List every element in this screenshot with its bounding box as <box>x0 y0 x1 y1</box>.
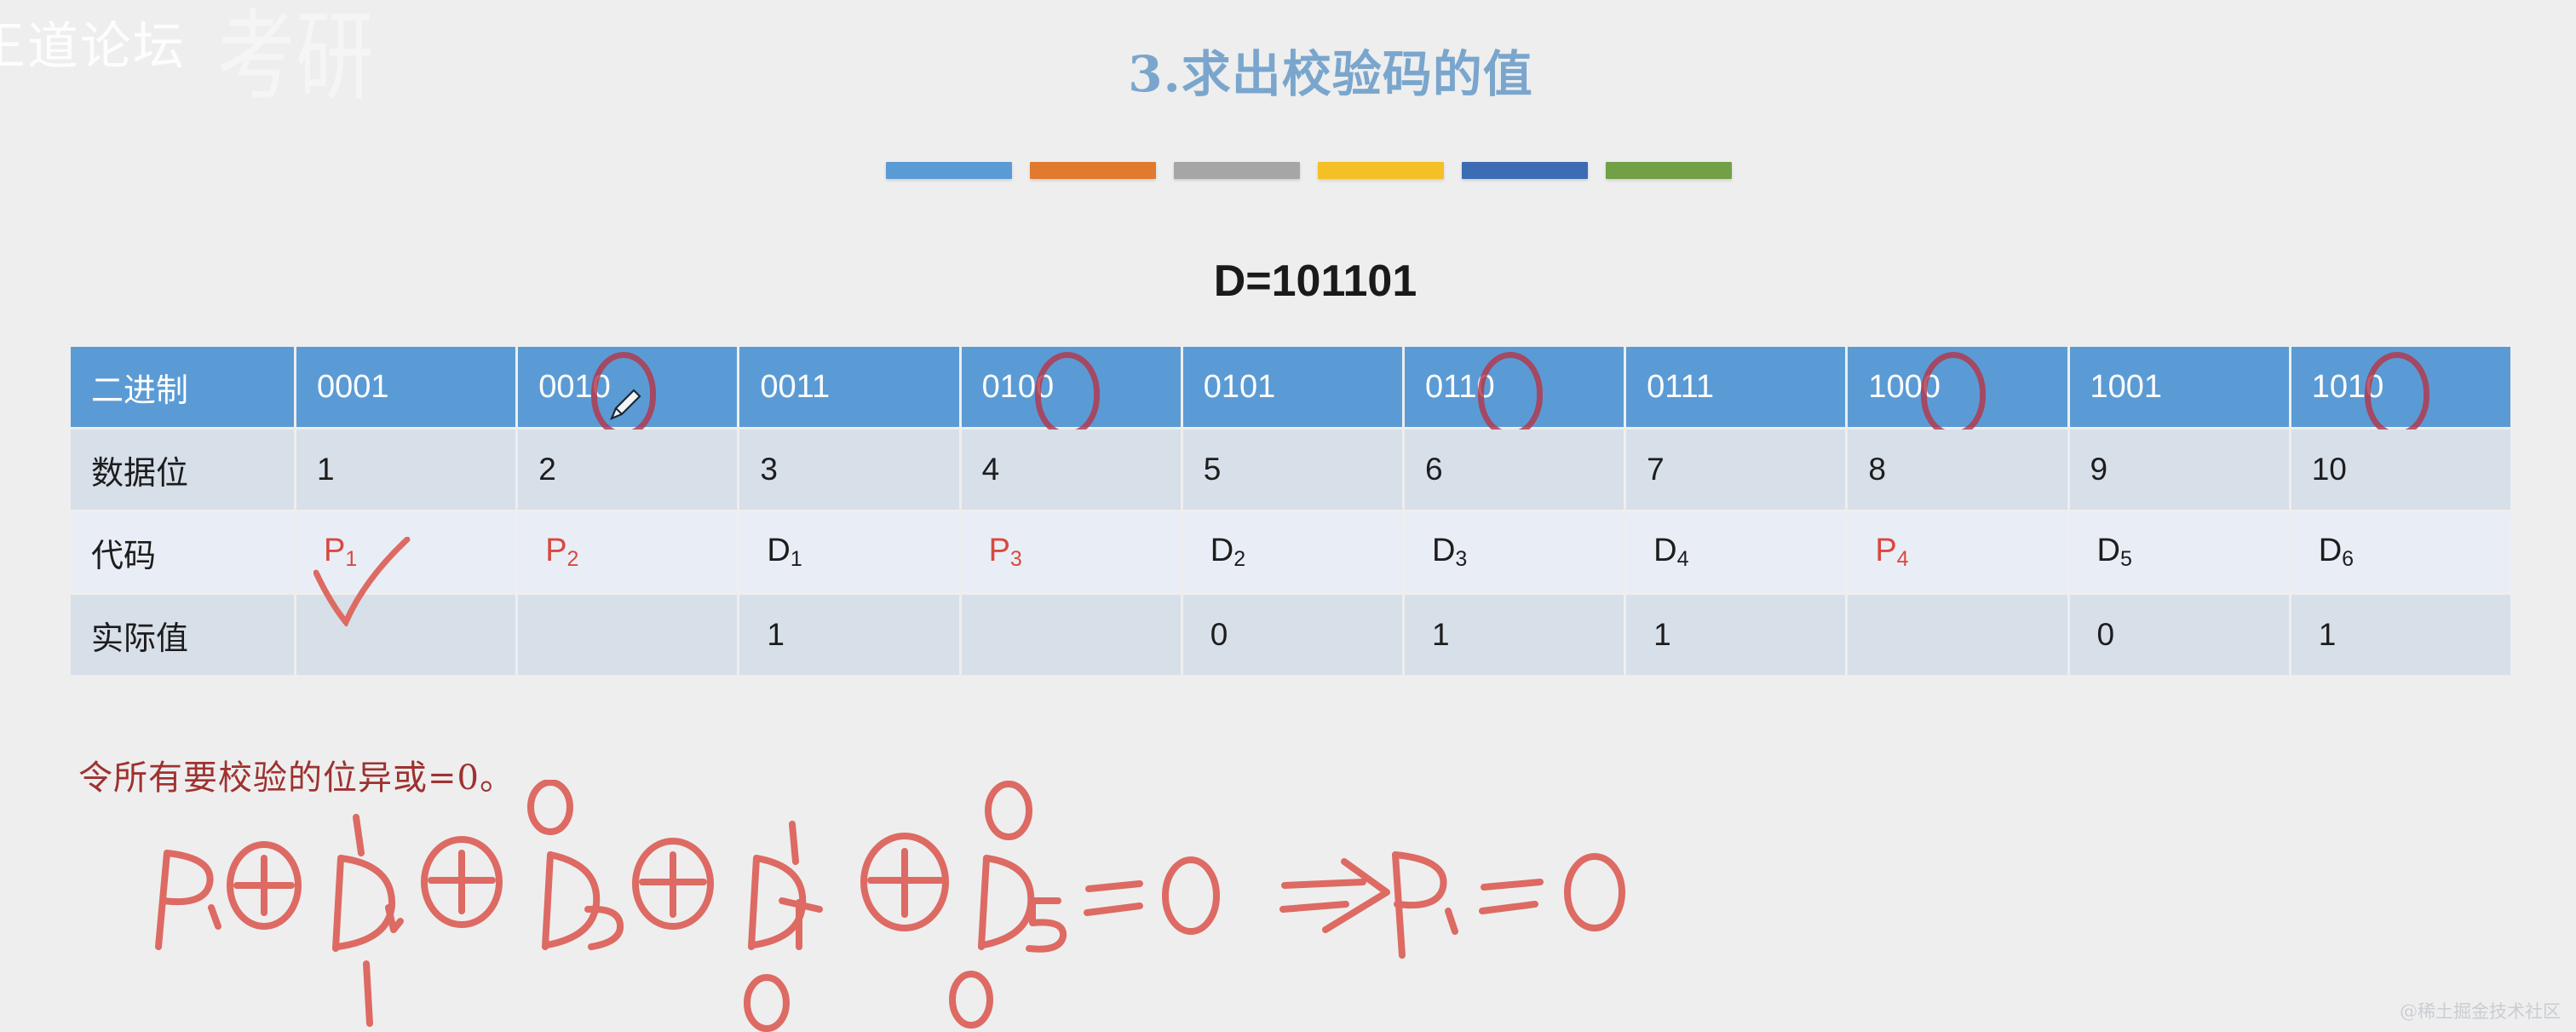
code-cell-P1: P1 <box>296 512 515 592</box>
actual-value-cell-6: 1 <box>1405 595 1624 675</box>
table-row-binary: 二进制0001001000110100010101100111100010011… <box>71 347 2510 427</box>
code-base: P <box>1875 533 1896 568</box>
actual-value-cell-7: 1 <box>1626 595 1845 675</box>
ink-result-p1-zero <box>1395 855 1622 955</box>
code-base: D <box>2097 533 2120 568</box>
code-subscript: 4 <box>1677 547 1689 571</box>
code-base: D <box>2319 533 2342 568</box>
code-subscript: 3 <box>1010 547 1022 571</box>
code-base: D <box>1653 533 1676 568</box>
code-base: D <box>767 533 790 568</box>
actual-value-cell-9: 0 <box>2070 595 2289 675</box>
data-bit-cell-10: 10 <box>2291 430 2510 510</box>
divider-bars <box>886 162 1732 179</box>
row-label-data-bit: 数据位 <box>71 430 294 510</box>
actual-value-cell-4 <box>962 595 1181 675</box>
ink-xor-4 <box>864 836 990 1025</box>
code-cell-P3: P3 <box>962 512 1181 592</box>
code-subscript: 2 <box>1233 547 1245 571</box>
hamming-code-table: 二进制0001001000110100010101100111100010011… <box>68 344 2513 677</box>
row-label-binary: 二进制 <box>71 347 294 427</box>
binary-cell-6: 0110 <box>1405 347 1624 427</box>
code-cell-D5: D5 <box>2070 512 2289 592</box>
binary-cell-2: 0010 <box>518 347 737 427</box>
actual-value-cell-8 <box>1848 595 2067 675</box>
ink-circle-annotation <box>1478 352 1543 437</box>
data-bit-cell-7: 7 <box>1626 430 1845 510</box>
actual-value-cell-2 <box>518 595 737 675</box>
data-word-label: D=101101 <box>0 256 2576 307</box>
ink-implies-arrow <box>1283 862 1387 930</box>
code-cell-D4: D4 <box>1626 512 1845 592</box>
binary-cell-7: 0111 <box>1626 347 1845 427</box>
ink-term-d5 <box>981 784 1063 949</box>
code-cell-D1: D1 <box>739 512 958 592</box>
page-title-text: 3.求出校验码的值 <box>1128 45 1533 103</box>
ink-equals-zero-1 <box>1087 860 1216 931</box>
binary-cell-9: 1001 <box>2070 347 2289 427</box>
handwriting-annotation-layer <box>0 780 2576 1032</box>
data-word-text: D=101101 <box>1214 257 1417 306</box>
ink-xor-2 <box>424 839 499 925</box>
bar-gold <box>1318 162 1444 179</box>
data-bit-cell-9: 9 <box>2070 430 2289 510</box>
ink-term-p1 <box>158 853 218 947</box>
table-row-code: 代码P1P2D1P3D2D3D4P4D5D6 <box>71 512 2510 592</box>
binary-cell-5: 0101 <box>1183 347 1402 427</box>
ink-term-d2 <box>531 782 620 947</box>
data-bit-cell-4: 4 <box>962 430 1181 510</box>
code-cell-P2: P2 <box>518 512 737 592</box>
actual-value-cell-1 <box>296 595 515 675</box>
watermark-bottom-right: @稀土掘金技术社区 <box>2400 998 2561 1023</box>
code-cell-D6: D6 <box>2291 512 2510 592</box>
actual-value-cell-10: 1 <box>2291 595 2510 675</box>
code-base: D <box>1432 533 1455 568</box>
data-bit-cell-2: 2 <box>518 430 737 510</box>
ink-circle-annotation <box>591 352 656 437</box>
code-subscript: 5 <box>2120 547 2132 571</box>
code-base: P <box>324 533 345 568</box>
binary-cell-4: 0100 <box>962 347 1181 427</box>
data-bit-cell-8: 8 <box>1848 430 2067 510</box>
actual-value-cell-3: 1 <box>739 595 958 675</box>
code-subscript: 3 <box>1455 547 1467 571</box>
table-row-actual-value: 实际值101101 <box>71 595 2510 675</box>
hamming-code-table-wrapper: 二进制0001001000110100010101100111100010011… <box>68 344 2513 677</box>
table-body: 二进制0001001000110100010101100111100010011… <box>71 347 2510 675</box>
ink-xor-1 <box>230 845 298 926</box>
bar-green <box>1606 162 1732 179</box>
xor-rule-caption: 令所有要校验的位异或=0。 <box>78 750 515 799</box>
page-title: 3.求出校验码的值 <box>0 34 2576 106</box>
code-cell-D3: D3 <box>1405 512 1624 592</box>
row-label-code: 代码 <box>71 512 294 592</box>
code-subscript: 1 <box>345 547 357 571</box>
code-base: P <box>545 533 566 568</box>
code-subscript: 6 <box>2342 547 2354 571</box>
binary-cell-10: 1010 <box>2291 347 2510 427</box>
row-label-actual-value: 实际值 <box>71 595 294 675</box>
data-bit-cell-5: 5 <box>1183 430 1402 510</box>
code-cell-D2: D2 <box>1183 512 1402 592</box>
code-subscript: 2 <box>567 547 579 571</box>
data-bit-cell-6: 6 <box>1405 430 1624 510</box>
binary-cell-1: 0001 <box>296 347 515 427</box>
ink-circle-annotation <box>1035 352 1100 437</box>
data-bit-cell-1: 1 <box>296 430 515 510</box>
table-row-data-bit: 数据位12345678910 <box>71 430 2510 510</box>
code-cell-P4: P4 <box>1848 512 2067 592</box>
ink-xor-3 <box>635 841 710 926</box>
data-bit-cell-3: 3 <box>739 430 958 510</box>
ink-circle-annotation <box>2365 352 2429 437</box>
code-subscript: 4 <box>1897 547 1909 571</box>
binary-cell-3: 0011 <box>739 347 958 427</box>
ink-term-d1 <box>336 817 400 1023</box>
actual-value-cell-5: 0 <box>1183 595 1402 675</box>
ink-circle-annotation <box>1921 352 1986 437</box>
bar-blue-light <box>886 162 1012 179</box>
code-subscript: 1 <box>791 547 802 571</box>
code-base: P <box>989 533 1010 568</box>
ink-term-d4 <box>747 824 819 1029</box>
binary-cell-8: 1000 <box>1848 347 2067 427</box>
code-base: D <box>1210 533 1233 568</box>
bar-gray <box>1174 162 1300 179</box>
bar-orange <box>1030 162 1156 179</box>
bar-blue-dark <box>1462 162 1588 179</box>
